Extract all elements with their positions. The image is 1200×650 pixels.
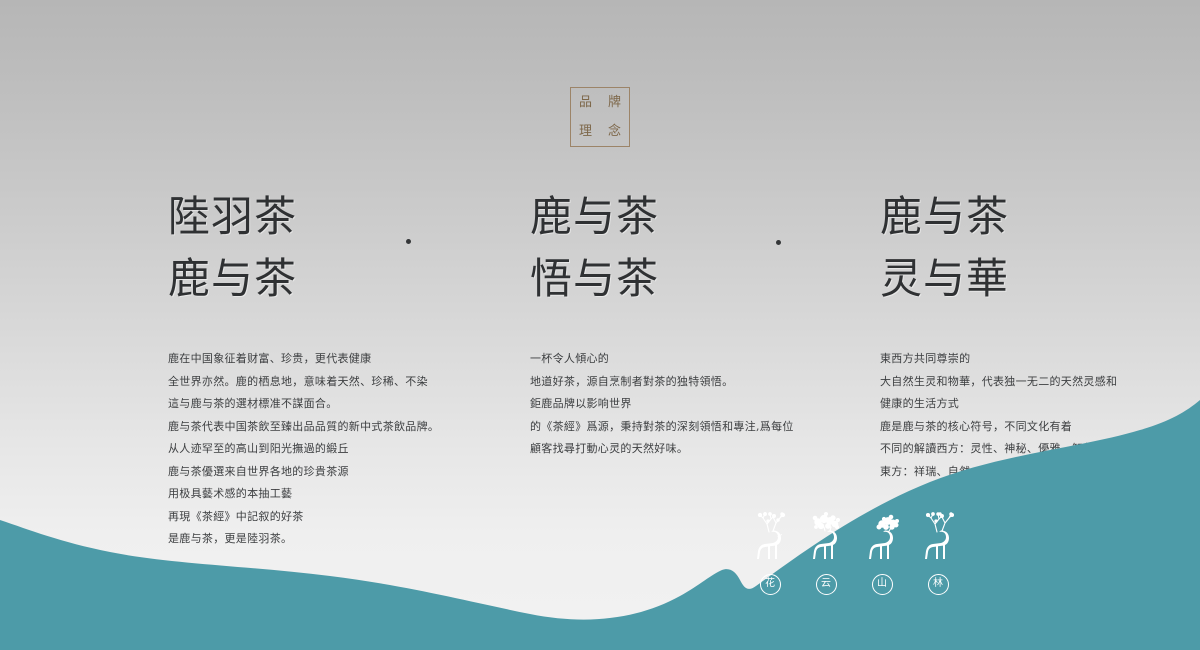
content-column-1: 陸羽茶 鹿与茶 鹿在中国象征着财富、珍贵，更代表健康 全世界亦然。鹿的栖息地，意… (168, 186, 498, 551)
column-2-headline-line-1: 鹿与茶 (530, 192, 659, 241)
deer-badge-flower: 花 (760, 574, 781, 595)
column-2-body: 一杯令人傾心的 地道好茶，源自烹制者對茶的独特領悟。 鉅鹿品牌以影响世界 的《茶… (530, 310, 860, 461)
body-line: 鹿与茶代表中国茶飲至臻出品品質的新中式茶飲品牌。 (168, 416, 498, 439)
deer-icon-row: 花 云 (748, 512, 960, 602)
separator-dot-1 (406, 239, 411, 244)
body-line: 鹿与茶優選来自世界各地的珍貴茶源 (168, 461, 498, 484)
separator-dot-2 (776, 240, 781, 245)
column-1-headline-line-2: 鹿与茶 (168, 254, 297, 303)
content-columns: 陸羽茶 鹿与茶 鹿在中国象征着财富、珍贵，更代表健康 全世界亦然。鹿的栖息地，意… (0, 186, 1200, 516)
body-line: 大自然生灵和物華，代表独一无二的天然灵感和 (880, 371, 1200, 394)
column-2-headline: 鹿与茶 悟与茶 (530, 186, 860, 310)
body-line: 地道好茶，源自烹制者對茶的独特領悟。 (530, 371, 860, 394)
column-1-body: 鹿在中国象征着财富、珍贵，更代表健康 全世界亦然。鹿的栖息地，意味着天然、珍稀、… (168, 310, 498, 551)
deer-mountain-icon (860, 512, 904, 568)
column-1-headline-line-1: 陸羽茶 (168, 192, 297, 241)
deer-item-forest: 林 (916, 512, 960, 595)
body-line: 用极具藝术感的本抽工藝 (168, 483, 498, 506)
deer-forest-icon (916, 512, 960, 568)
deer-flower-icon (748, 512, 792, 568)
brand-philosophy-seal: 品 牌 理 念 (570, 87, 630, 147)
column-3-headline-line-2: 灵与華 (880, 254, 1009, 303)
column-2-headline-line-2: 悟与茶 (530, 254, 659, 303)
body-line: 不同的解讀西方：灵性、神秘、優雅、智慧 (880, 438, 1200, 461)
column-3-headline-line-1: 鹿与茶 (880, 192, 1009, 241)
body-line: 鹿是鹿与茶的核心符号，不同文化有着 (880, 416, 1200, 439)
body-line: 是鹿与茶，更是陸羽茶。 (168, 528, 498, 551)
content-column-2: 鹿与茶 悟与茶 一杯令人傾心的 地道好茶，源自烹制者對茶的独特領悟。 鉅鹿品牌以… (530, 186, 860, 461)
seal-char-4: 念 (608, 125, 621, 138)
deer-cloud-icon (804, 512, 848, 568)
body-line: 从人迹罕至的高山到阳光撫過的緞丘 (168, 438, 498, 461)
body-line: 東方：祥瑞、自然、权利、养生 (880, 461, 1200, 484)
deer-badge-mountain: 山 (872, 574, 893, 595)
brand-philosophy-poster: 品 牌 理 念 陸羽茶 鹿与茶 鹿在中国象征着财富、珍贵，更代表健康 全世界亦然… (0, 0, 1200, 650)
body-line: 健康的生活方式 (880, 393, 1200, 416)
column-3-body: 東西方共同尊崇的 大自然生灵和物華，代表独一无二的天然灵感和 健康的生活方式 鹿… (880, 310, 1200, 483)
body-line: 鹿在中国象征着财富、珍贵，更代表健康 (168, 348, 498, 371)
column-3-headline: 鹿与茶 灵与華 (880, 186, 1200, 310)
column-1-headline: 陸羽茶 鹿与茶 (168, 186, 498, 310)
deer-item-cloud: 云 (804, 512, 848, 595)
seal-char-2: 牌 (608, 96, 621, 109)
body-line: 再現《茶經》中記叙的好茶 (168, 506, 498, 529)
body-line: 這与鹿与茶的選材標准不謀面合。 (168, 393, 498, 416)
body-line: 鉅鹿品牌以影响世界 (530, 393, 860, 416)
content-column-3: 鹿与茶 灵与華 東西方共同尊崇的 大自然生灵和物華，代表独一无二的天然灵感和 健… (880, 186, 1200, 483)
deer-item-flower: 花 (748, 512, 792, 595)
body-line: 東西方共同尊崇的 (880, 348, 1200, 371)
seal-char-3: 理 (579, 125, 592, 138)
seal-char-1: 品 (579, 96, 592, 109)
body-line: 全世界亦然。鹿的栖息地，意味着天然、珍稀、不染 (168, 371, 498, 394)
deer-item-mountain: 山 (860, 512, 904, 595)
deer-badge-cloud: 云 (816, 574, 837, 595)
deer-badge-forest: 林 (928, 574, 949, 595)
body-line: 一杯令人傾心的 (530, 348, 860, 371)
body-line: 的《茶經》爲源，秉持對茶的深刻領悟和專注,爲每位 (530, 416, 860, 439)
body-line: 顧客找尋打動心灵的天然好味。 (530, 438, 860, 461)
